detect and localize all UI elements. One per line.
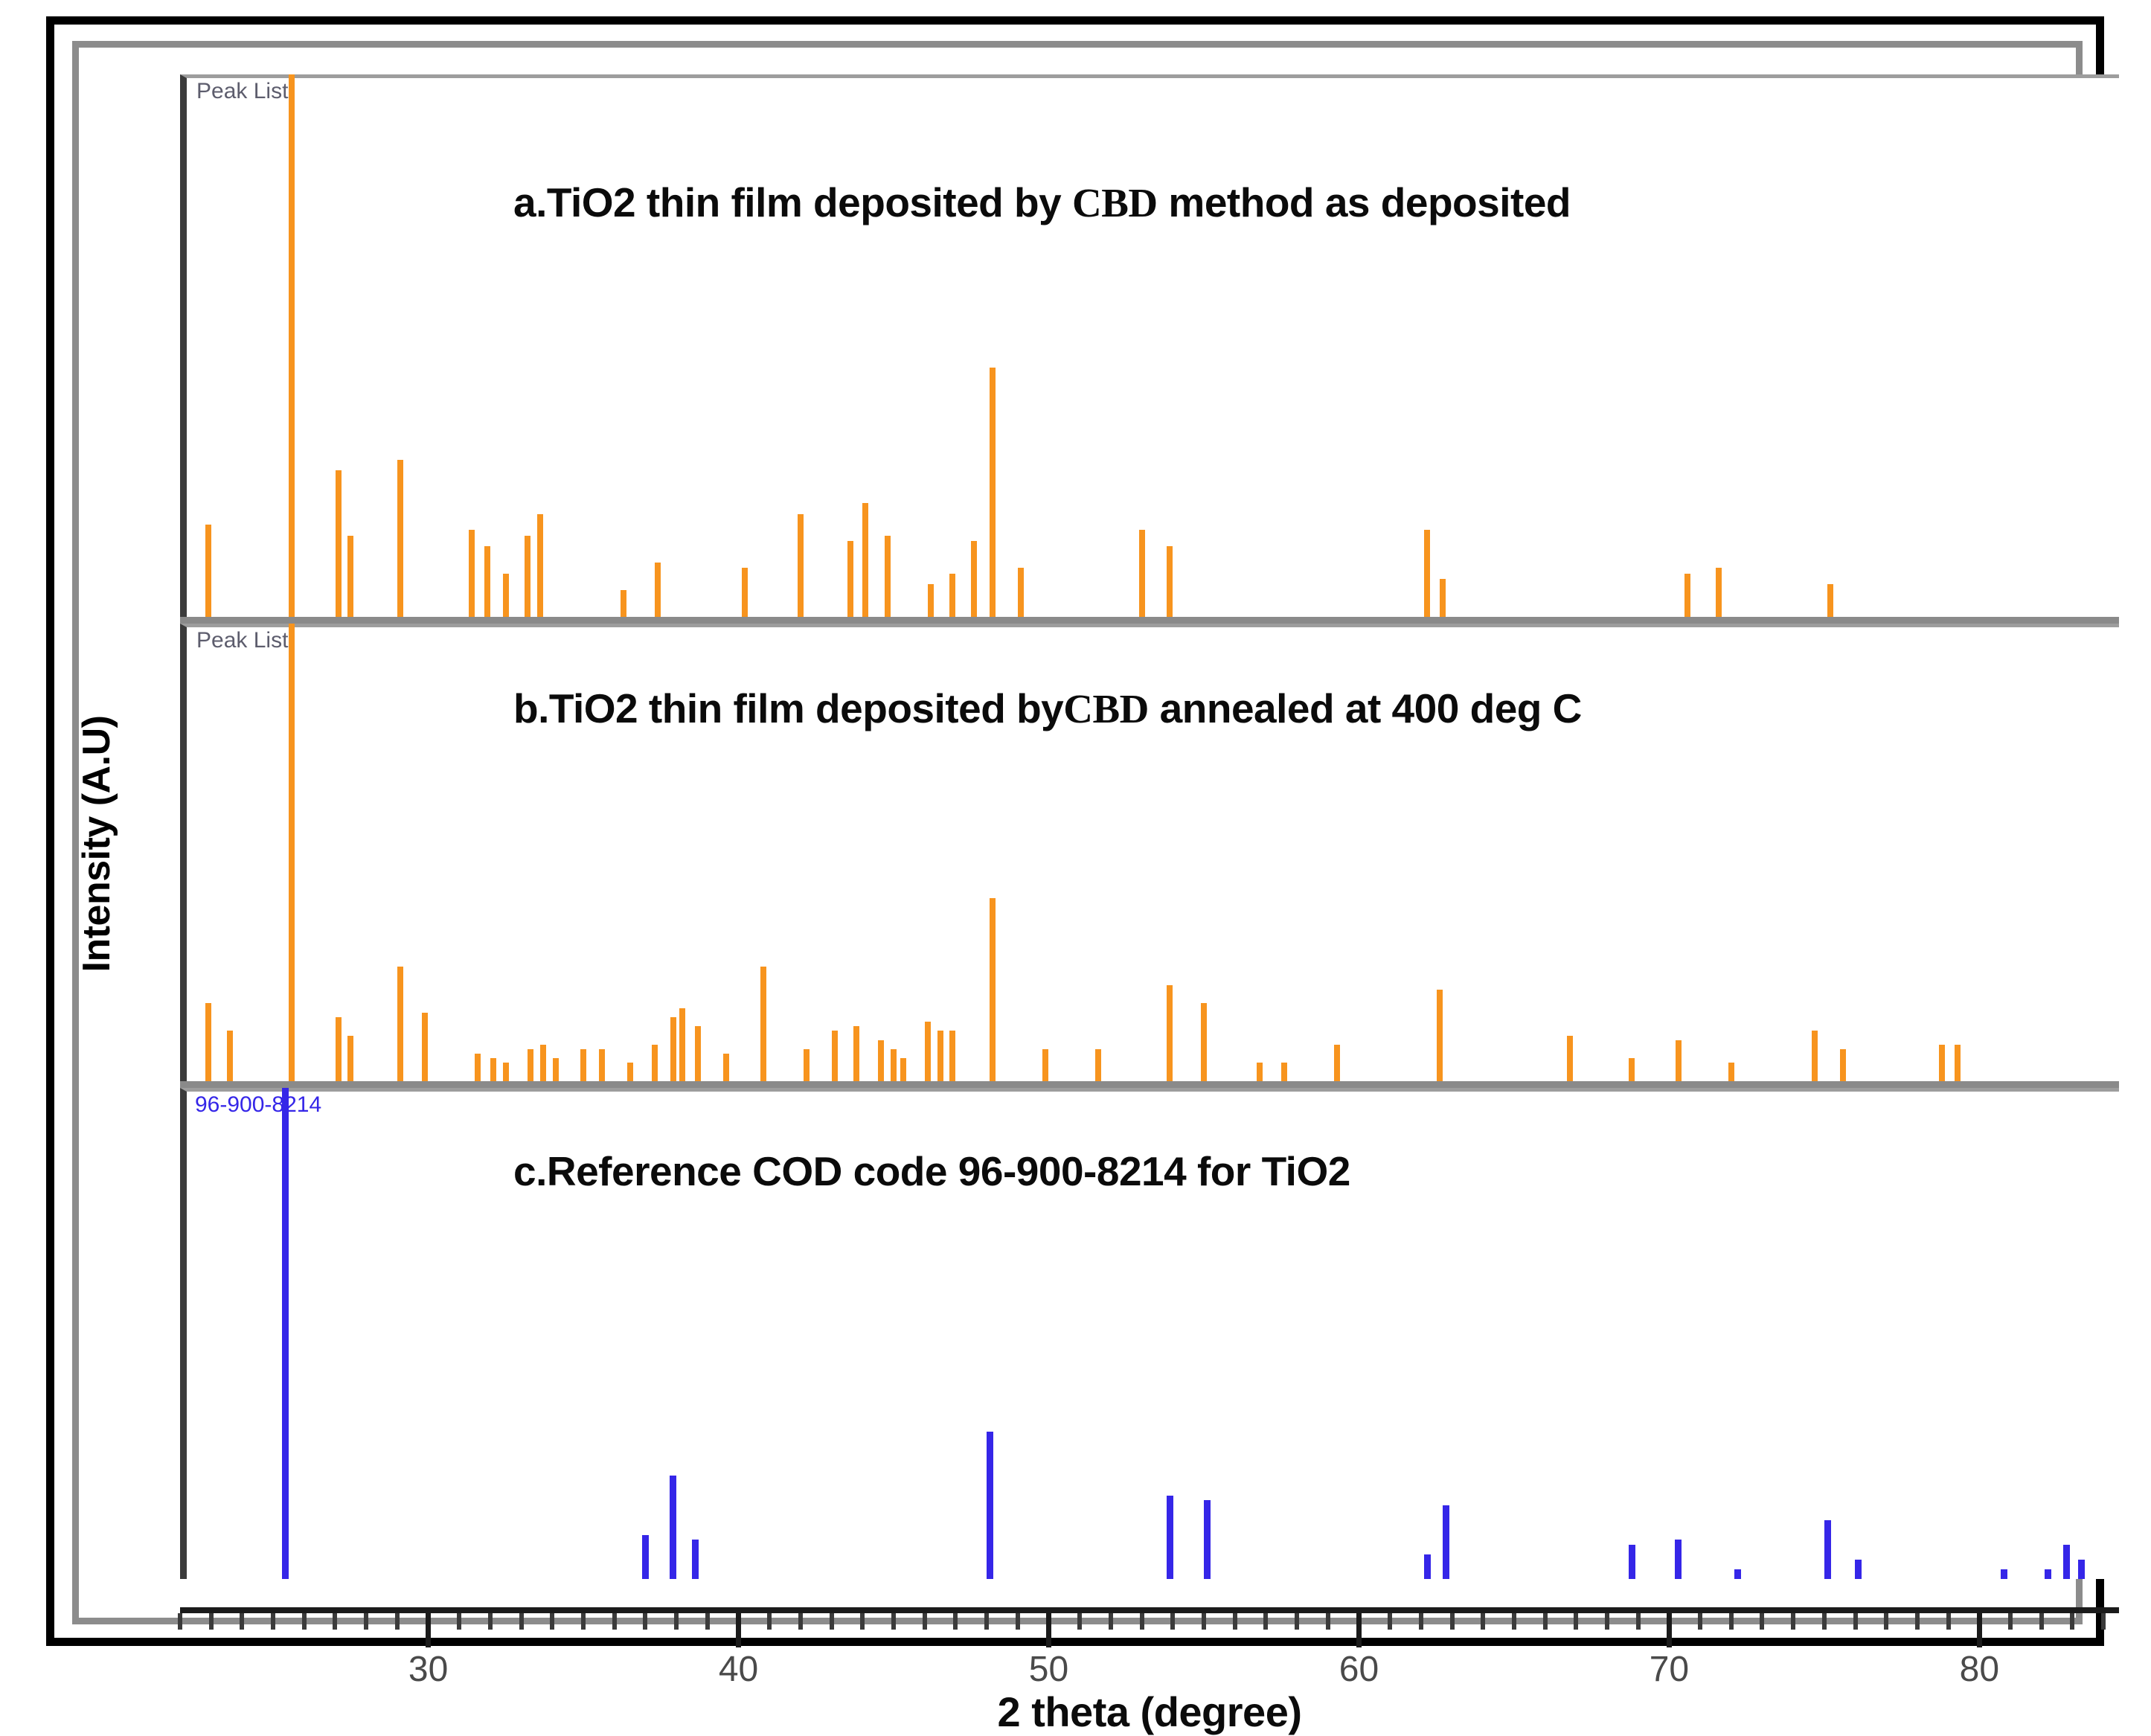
panel-b-annealed: Peak List b.TiO2 thin film deposited byC… — [180, 624, 2119, 1088]
peak-marker — [1334, 1045, 1340, 1081]
x-tick-minor — [302, 1613, 307, 1630]
peak-marker — [655, 563, 661, 617]
peak-marker — [1716, 568, 1722, 617]
x-tick-minor — [1791, 1613, 1795, 1630]
peak-marker — [642, 1535, 649, 1579]
peak-marker — [692, 1540, 699, 1579]
x-tick-major — [1977, 1613, 1982, 1647]
peak-marker — [847, 541, 853, 617]
x-tick-minor — [581, 1613, 586, 1630]
x-tick-minor — [209, 1613, 214, 1630]
peak-marker — [1424, 1554, 1431, 1579]
peak-marker — [1840, 1049, 1846, 1081]
peak-marker — [1824, 1520, 1831, 1579]
peak-marker — [227, 1031, 233, 1081]
x-tick-minor — [1450, 1613, 1455, 1630]
peak-marker — [723, 1054, 729, 1081]
peak-marker — [679, 1008, 685, 1081]
panel-b-title-part2: annealed at 400 deg C — [1149, 685, 1582, 731]
x-tick-minor — [2008, 1613, 2013, 1630]
peak-marker — [885, 536, 891, 617]
peak-marker — [652, 1045, 658, 1081]
peak-marker — [670, 1017, 676, 1081]
peak-marker — [1167, 546, 1173, 617]
panel-a-title: a.TiO2 thin film deposited by CBD method… — [513, 179, 1571, 226]
panel-c-cod-code-label: 96-900-8214 — [195, 1092, 321, 1118]
peak-marker — [397, 967, 403, 1081]
panel-b-baseline — [180, 1081, 2119, 1088]
peak-marker — [347, 536, 353, 617]
x-tick-minor — [2039, 1613, 2044, 1630]
peak-marker — [336, 470, 342, 617]
x-tick-minor — [1574, 1613, 1578, 1630]
peak-marker — [695, 1026, 701, 1081]
x-tick-minor — [1295, 1613, 1299, 1630]
peak-marker — [503, 1063, 509, 1081]
panel-a-title-part2: method as deposited — [1158, 179, 1571, 225]
peak-marker — [1042, 1049, 1048, 1081]
panel-a-title-part1: a.TiO2 thin film deposited by — [513, 179, 1072, 225]
peak-marker — [2001, 1569, 2007, 1579]
panel-c-reference: 96-900-8214 c.Reference COD code 96-900-… — [180, 1088, 2119, 1579]
x-tick-minor — [1543, 1613, 1548, 1630]
panel-a-peak-list-label: Peak List — [196, 79, 288, 104]
peak-marker — [621, 590, 626, 617]
x-tick-minor — [178, 1613, 182, 1630]
x-tick-minor — [1170, 1613, 1175, 1630]
x-tick-minor — [612, 1613, 617, 1630]
peak-marker — [2078, 1560, 2085, 1579]
peak-marker — [1201, 1003, 1207, 1081]
peak-marker — [475, 1054, 481, 1081]
peak-marker — [1437, 990, 1443, 1081]
x-tick-minor — [1202, 1613, 1206, 1630]
x-tick-label: 70 — [1650, 1649, 1689, 1690]
x-tick-minor — [1419, 1613, 1423, 1630]
x-tick-minor — [1884, 1613, 1888, 1630]
peak-marker — [853, 1026, 859, 1081]
panel-a-baseline — [180, 617, 2119, 624]
peak-marker — [1629, 1545, 1635, 1579]
x-tick-minor — [1016, 1613, 1020, 1630]
xrd-plot-stack: Peak List a.TiO2 thin film deposited by … — [180, 74, 2119, 1607]
x-tick-minor — [550, 1613, 554, 1630]
peak-marker — [525, 536, 530, 617]
x-tick-minor — [1233, 1613, 1237, 1630]
peak-marker — [891, 1049, 897, 1081]
x-tick-minor — [240, 1613, 244, 1630]
peak-marker — [484, 546, 490, 617]
panel-c-title: c.Reference COD code 96-900-8214 for TiO… — [513, 1147, 1350, 1195]
x-tick-major — [1667, 1613, 1672, 1647]
x-tick-minor — [953, 1613, 958, 1630]
x-tick-minor — [984, 1613, 989, 1630]
peak-marker — [289, 624, 295, 1081]
x-tick-minor — [364, 1613, 368, 1630]
peak-marker — [1567, 1036, 1573, 1082]
x-tick-minor — [1853, 1613, 1858, 1630]
peak-marker — [540, 1045, 546, 1081]
x-tick-minor — [1512, 1613, 1516, 1630]
x-axis: 304050607080 2 theta (degree) — [180, 1607, 2119, 1719]
peak-marker — [925, 1022, 931, 1081]
y-axis-title: Intensity (A.U) — [74, 152, 116, 613]
x-tick-minor — [830, 1613, 834, 1630]
peak-marker — [599, 1049, 605, 1081]
x-tick-minor — [798, 1613, 803, 1630]
peak-marker — [1827, 584, 1833, 617]
x-tick-minor — [395, 1613, 400, 1630]
peak-marker — [580, 1049, 586, 1081]
peak-marker — [469, 530, 475, 617]
peak-marker — [928, 584, 934, 617]
peak-marker — [937, 1031, 943, 1081]
peak-marker — [627, 1063, 633, 1081]
peak-marker — [503, 574, 509, 617]
peak-marker — [1855, 1560, 1862, 1579]
peak-marker — [670, 1476, 676, 1579]
peak-marker — [1728, 1063, 1734, 1081]
panel-a-title-cbd: CBD — [1072, 180, 1158, 225]
x-tick-minor — [767, 1613, 772, 1630]
panel-b-title-part1: b.TiO2 thin film deposited by — [513, 685, 1063, 731]
peak-marker — [1684, 574, 1690, 617]
peak-marker — [878, 1040, 884, 1081]
x-tick-minor — [891, 1613, 896, 1630]
x-tick-minor — [643, 1613, 647, 1630]
figure-outer-frame: Intensity (A.U) Peak List a.TiO2 thin fi… — [46, 16, 2104, 1646]
x-tick-minor — [1946, 1613, 1951, 1630]
peak-marker — [1675, 1540, 1682, 1579]
x-tick-minor — [2070, 1613, 2074, 1630]
x-tick-label: 30 — [408, 1649, 448, 1690]
x-tick-minor — [1636, 1613, 1641, 1630]
peak-marker — [804, 1049, 810, 1081]
peak-marker — [553, 1058, 559, 1081]
x-tick-major — [426, 1613, 431, 1647]
x-axis-title: 2 theta (degree) — [180, 1688, 2119, 1736]
peak-marker — [2045, 1569, 2051, 1579]
peak-marker — [1676, 1040, 1682, 1081]
peak-marker — [336, 1017, 342, 1081]
peak-marker — [832, 1031, 838, 1081]
peak-marker — [1204, 1500, 1211, 1579]
peak-marker — [987, 1432, 993, 1579]
peak-marker — [1629, 1058, 1635, 1081]
x-tick-minor — [1822, 1613, 1827, 1630]
x-tick-minor — [1263, 1613, 1268, 1630]
x-tick-minor — [1109, 1613, 1113, 1630]
peak-marker — [1095, 1049, 1101, 1081]
x-tick-label: 80 — [1960, 1649, 1999, 1690]
x-tick-minor — [1481, 1613, 1485, 1630]
y-axis-title-text: Intensity (A.U) — [74, 613, 119, 1074]
peak-marker — [1955, 1045, 1961, 1081]
x-tick-major — [736, 1613, 741, 1647]
peak-marker — [205, 525, 211, 617]
x-tick-minor — [1915, 1613, 1920, 1630]
x-tick-major — [1356, 1613, 1362, 1647]
peak-marker — [742, 568, 748, 617]
peak-marker — [1424, 530, 1430, 617]
x-tick-minor — [333, 1613, 337, 1630]
panel-b-title: b.TiO2 thin film deposited byCBD anneale… — [513, 685, 1582, 732]
x-tick-minor — [1140, 1613, 1144, 1630]
x-tick-minor — [519, 1613, 524, 1630]
peak-marker — [1440, 579, 1446, 617]
peak-marker — [862, 503, 868, 617]
peak-marker — [760, 967, 766, 1081]
peak-marker — [537, 514, 543, 618]
x-tick-major — [1046, 1613, 1051, 1647]
peak-marker — [205, 1003, 211, 1081]
peak-marker — [2063, 1545, 2070, 1579]
x-tick-label: 40 — [719, 1649, 758, 1690]
x-tick-minor — [1605, 1613, 1609, 1630]
peak-marker — [949, 1031, 955, 1081]
x-axis-line — [180, 1607, 2119, 1613]
x-tick-minor — [271, 1613, 275, 1630]
peak-marker — [798, 514, 804, 618]
x-tick-minor — [674, 1613, 679, 1630]
x-tick-minor — [1729, 1613, 1734, 1630]
peak-marker — [1812, 1031, 1818, 1081]
figure-inner-frame: Intensity (A.U) Peak List a.TiO2 thin fi… — [72, 41, 2083, 1624]
panel-b-peak-list-label: Peak List — [196, 628, 288, 653]
peak-marker — [1734, 1569, 1741, 1579]
peak-marker — [1139, 530, 1145, 617]
x-tick-minor — [488, 1613, 493, 1630]
x-tick-minor — [1388, 1613, 1392, 1630]
x-tick-minor — [1760, 1613, 1764, 1630]
x-tick-label: 50 — [1029, 1649, 1068, 1690]
peak-marker — [971, 541, 977, 617]
panel-a-as-deposited: Peak List a.TiO2 thin film deposited by … — [180, 74, 2119, 624]
x-tick-minor — [1698, 1613, 1702, 1630]
peak-marker — [1281, 1063, 1287, 1081]
panel-b-title-cbd: CBD — [1063, 686, 1149, 731]
x-tick-minor — [1326, 1613, 1330, 1630]
peak-marker — [1018, 568, 1024, 617]
x-tick-minor — [2101, 1613, 2106, 1630]
peak-marker — [289, 74, 295, 617]
peak-marker — [1167, 985, 1173, 1081]
peak-marker — [949, 574, 955, 617]
peak-marker — [1167, 1496, 1173, 1579]
peak-marker — [1443, 1505, 1449, 1579]
peak-marker — [990, 368, 996, 617]
peak-marker — [900, 1058, 906, 1081]
x-tick-minor — [705, 1613, 710, 1630]
panel-a-peak-area — [180, 74, 2119, 617]
x-tick-minor — [457, 1613, 461, 1630]
peak-marker — [1939, 1045, 1945, 1081]
peak-marker — [528, 1049, 533, 1081]
x-tick-minor — [860, 1613, 865, 1630]
x-tick-label: 60 — [1339, 1649, 1379, 1690]
peak-marker — [490, 1058, 496, 1081]
peak-marker — [347, 1036, 353, 1082]
peak-marker — [422, 1013, 428, 1081]
peak-marker — [397, 460, 403, 617]
x-tick-minor — [923, 1613, 927, 1630]
peak-marker — [1257, 1063, 1263, 1081]
peak-marker — [282, 1088, 289, 1579]
peak-marker — [990, 898, 996, 1081]
x-tick-minor — [1077, 1613, 1082, 1630]
